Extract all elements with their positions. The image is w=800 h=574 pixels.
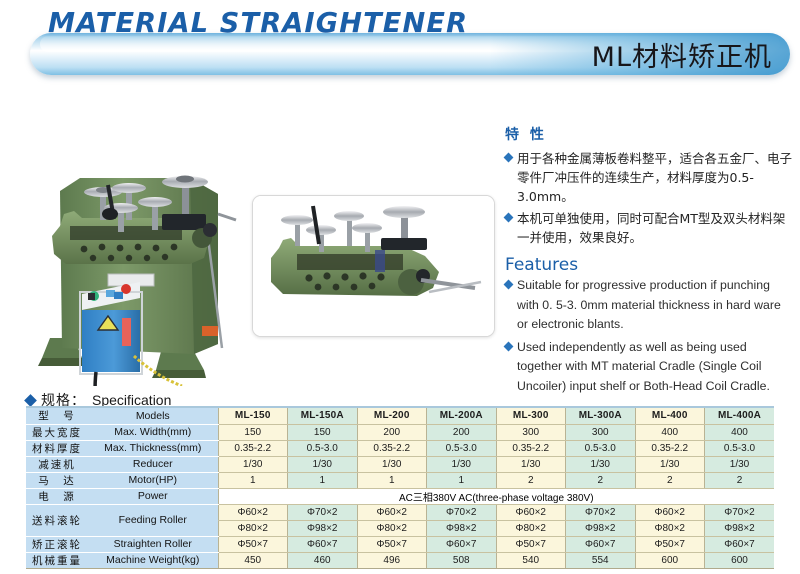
cell: 0.5-3.0 — [566, 440, 636, 456]
cell: Φ80×2 — [496, 520, 566, 536]
feature-cn-item: 用于各种金属薄板卷料整平，适合各五金厂、电子零件厂冲压件的连续生产，材料厚度为0… — [505, 149, 795, 206]
feature-en-text: Used independently as well as being used… — [517, 338, 795, 397]
cell: 600 — [635, 552, 705, 568]
cell: Φ50×7 — [635, 536, 705, 552]
cell: 1/30 — [288, 456, 358, 472]
diamond-bullet-icon — [504, 341, 514, 351]
table-row: 矫正滚轮 Straighten Roller Φ50×7 Φ60×7 Φ50×7… — [26, 536, 774, 552]
cell: Φ60×7 — [566, 536, 636, 552]
row-label-cn: 电 源 — [26, 488, 88, 504]
cell: ML-200 — [357, 408, 427, 424]
feature-cn-item: 本机可单独使用，同时可配合MT型及双头材料架一并使用，效果良好。 — [505, 209, 795, 247]
machine-illustration — [22, 86, 247, 386]
cell: 0.35-2.2 — [496, 440, 566, 456]
cell: 1 — [357, 472, 427, 488]
cell: Φ50×7 — [496, 536, 566, 552]
cell: Φ60×2 — [357, 504, 427, 520]
cell: Φ98×2 — [705, 520, 775, 536]
cell: Φ60×2 — [496, 504, 566, 520]
row-label-cn: 矫正滚轮 — [26, 536, 88, 552]
feature-en-item: Suitable for progressive production if p… — [505, 276, 795, 335]
roller-head-illustration — [253, 196, 495, 337]
cell: 2 — [566, 472, 636, 488]
feature-en-text: Suitable for progressive production if p… — [517, 276, 795, 335]
cell: ML-400 — [635, 408, 705, 424]
cell: 1/30 — [566, 456, 636, 472]
cell: 300 — [496, 424, 566, 440]
cell: ML-150 — [218, 408, 288, 424]
cell: 1/30 — [496, 456, 566, 472]
cell: 0.5-3.0 — [427, 440, 497, 456]
cell: ML-300A — [566, 408, 636, 424]
table-row: 材料厚度 Max. Thickness(mm) 0.35-2.2 0.5-3.0… — [26, 440, 774, 456]
cell: 400 — [635, 424, 705, 440]
cell: 2 — [496, 472, 566, 488]
cell: 460 — [288, 552, 358, 568]
diamond-bullet-icon — [504, 213, 514, 223]
cell: Φ60×7 — [427, 536, 497, 552]
specification-table: 型 号 Models ML-150 ML-150A ML-200 ML-200A… — [26, 408, 774, 569]
cell: 0.35-2.2 — [357, 440, 427, 456]
table-row: 最大宽度 Max. Width(mm) 150 150 200 200 300 … — [26, 424, 774, 440]
feature-en-item: Used independently as well as being used… — [505, 338, 795, 397]
cell: Φ60×7 — [288, 536, 358, 552]
features-cn-heading: 特 性 — [505, 124, 795, 144]
row-label-en: Reducer — [88, 456, 218, 472]
diamond-bullet-icon — [504, 153, 514, 163]
cell: 508 — [427, 552, 497, 568]
power-value: AC三相380V AC(three-phase voltage 380V) — [218, 488, 774, 504]
table-row: 减速机 Reducer 1/30 1/30 1/30 1/30 1/30 1/3… — [26, 456, 774, 472]
machine-photo — [22, 86, 247, 386]
cell: Φ60×2 — [635, 504, 705, 520]
cell: 496 — [357, 552, 427, 568]
row-label-en: Models — [88, 408, 218, 424]
cell: Φ70×2 — [566, 504, 636, 520]
table-body: 型 号 Models ML-150 ML-150A ML-200 ML-200A… — [26, 408, 774, 568]
feature-cn-text: 本机可单独使用，同时可配合MT型及双头材料架一并使用，效果良好。 — [517, 209, 795, 247]
cell: Φ70×2 — [705, 504, 775, 520]
cell: Φ70×2 — [288, 504, 358, 520]
row-label-en: Max. Width(mm) — [88, 424, 218, 440]
cell: 150 — [288, 424, 358, 440]
row-label-cn: 送料滚轮 — [26, 504, 88, 536]
cell: 300 — [566, 424, 636, 440]
cell: Φ60×2 — [218, 504, 288, 520]
cell: 1/30 — [705, 456, 775, 472]
cell: 0.35-2.2 — [635, 440, 705, 456]
cell: Φ98×2 — [566, 520, 636, 536]
cell: 200 — [427, 424, 497, 440]
cell: 200 — [357, 424, 427, 440]
cell: Φ80×2 — [357, 520, 427, 536]
table-row: 马 达 Motor(HP) 1 1 1 1 2 2 2 2 — [26, 472, 774, 488]
diamond-bullet-icon — [24, 394, 37, 407]
row-label-en: Max. Thickness(mm) — [88, 440, 218, 456]
cell: 0.5-3.0 — [705, 440, 775, 456]
cell: Φ50×7 — [218, 536, 288, 552]
row-label-cn: 材料厚度 — [26, 440, 88, 456]
features-column: 特 性 用于各种金属薄板卷料整平，适合各五金厂、电子零件厂冲压件的连续生产，材料… — [505, 124, 795, 399]
cell: 600 — [705, 552, 775, 568]
row-label-cn: 马 达 — [26, 472, 88, 488]
cell: 450 — [218, 552, 288, 568]
cell: 150 — [218, 424, 288, 440]
table-row: 型 号 Models ML-150 ML-150A ML-200 ML-200A… — [26, 408, 774, 424]
cell: 0.5-3.0 — [288, 440, 358, 456]
cell: 1/30 — [427, 456, 497, 472]
banner-title-cn: ML材料矫正机 — [592, 35, 772, 74]
cell: 540 — [496, 552, 566, 568]
datasheet-page: MATERIAL STRAIGHTENER ML材料矫正机 — [0, 0, 800, 574]
table-row: 机械重量 Machine Weight(kg) 450 460 496 508 … — [26, 552, 774, 568]
cell: Φ98×2 — [427, 520, 497, 536]
cell: 1/30 — [218, 456, 288, 472]
row-label-cn: 型 号 — [26, 408, 88, 424]
table-row-feeding-roller-top: 送料滚轮 Feeding Roller Φ60×2 Φ70×2 Φ60×2 Φ7… — [26, 504, 774, 520]
cell: 554 — [566, 552, 636, 568]
cell: Φ98×2 — [288, 520, 358, 536]
cell: Φ60×7 — [705, 536, 775, 552]
row-label-en: Feeding Roller — [88, 504, 218, 536]
table-row-power: 电 源 Power AC三相380V AC(three-phase voltag… — [26, 488, 774, 504]
closeup-photo — [252, 195, 495, 337]
features-en-heading: Features — [505, 255, 795, 275]
cell: Φ70×2 — [427, 504, 497, 520]
row-label-en: Motor(HP) — [88, 472, 218, 488]
row-label-en: Power — [88, 488, 218, 504]
cell: ML-400A — [705, 408, 775, 424]
cell: 0.35-2.2 — [218, 440, 288, 456]
row-label-cn: 最大宽度 — [26, 424, 88, 440]
cell: Φ80×2 — [635, 520, 705, 536]
diamond-bullet-icon — [504, 280, 514, 290]
cell: 400 — [705, 424, 775, 440]
row-label-en: Straighten Roller — [88, 536, 218, 552]
cell: ML-200A — [427, 408, 497, 424]
cell: 2 — [635, 472, 705, 488]
cell: Φ80×2 — [218, 520, 288, 536]
cell: 1/30 — [357, 456, 427, 472]
cell: 2 — [705, 472, 775, 488]
cell: 1 — [427, 472, 497, 488]
feature-cn-text: 用于各种金属薄板卷料整平，适合各五金厂、电子零件厂冲压件的连续生产，材料厚度为0… — [517, 149, 795, 206]
cell: ML-150A — [288, 408, 358, 424]
cell: 1 — [288, 472, 358, 488]
cell: 1 — [218, 472, 288, 488]
cell: ML-300 — [496, 408, 566, 424]
cell: Φ50×7 — [357, 536, 427, 552]
row-label-cn: 机械重量 — [26, 552, 88, 568]
row-label-en: Machine Weight(kg) — [88, 552, 218, 568]
row-label-cn: 减速机 — [26, 456, 88, 472]
cell: 1/30 — [635, 456, 705, 472]
